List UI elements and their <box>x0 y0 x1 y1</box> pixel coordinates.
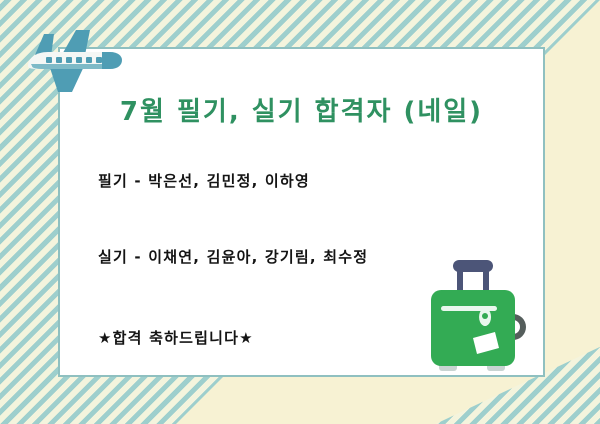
written-exam-passers-line: 필기 - 박은선, 김민정, 이하영 <box>98 170 310 191</box>
suitcase-icon <box>421 250 543 378</box>
page-title: 7월 필기, 실기 합격자 (네일) <box>60 91 543 128</box>
airplane-icon <box>14 22 126 94</box>
poster-canvas: 7월 필기, 실기 합격자 (네일) 필기 - 박은선, 김민정, 이하영 실기… <box>0 0 600 424</box>
congratulations-line: ★합격 축하드립니다★ <box>98 327 254 348</box>
practical-exam-passers-line: 실기 - 이채연, 김윤아, 강기림, 최수정 <box>98 246 368 267</box>
